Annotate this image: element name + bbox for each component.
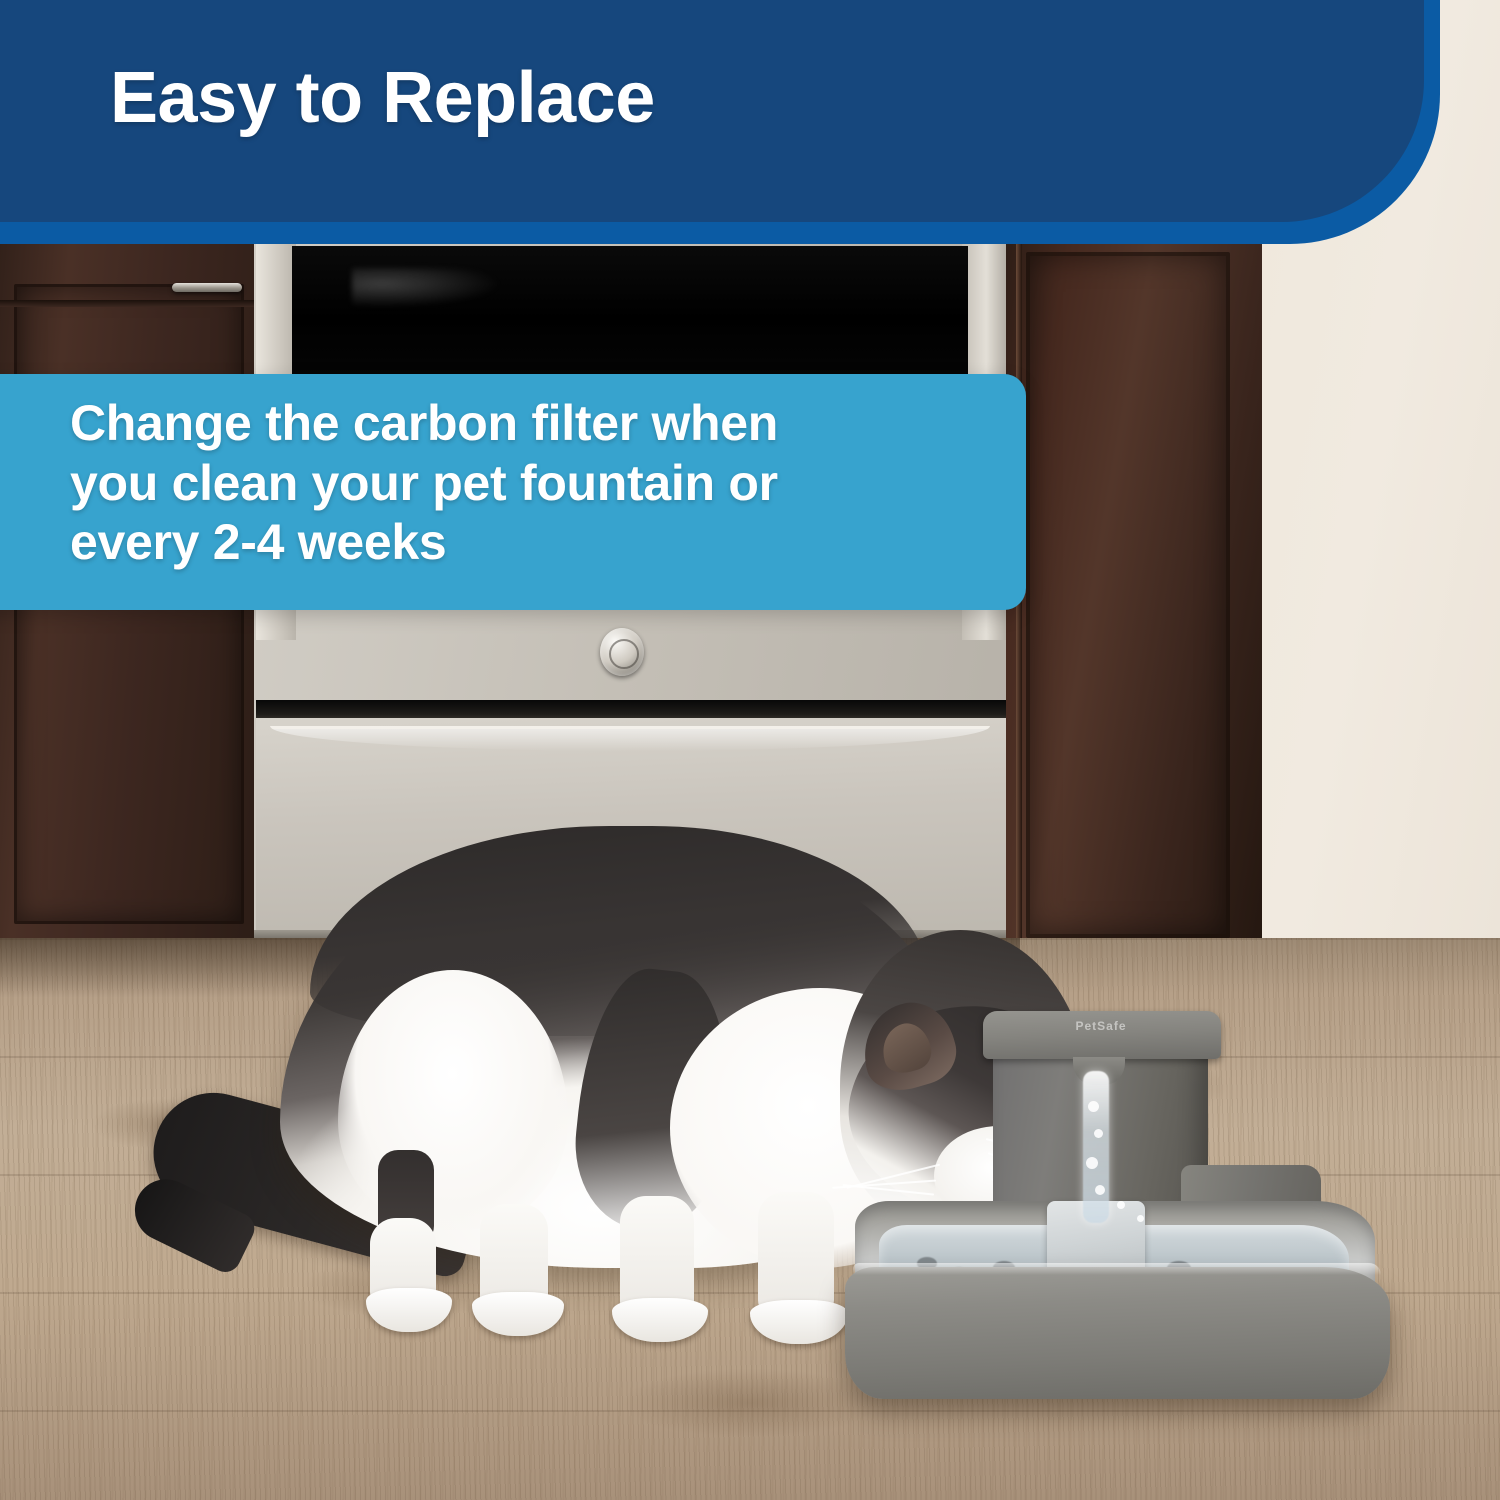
cat-paw bbox=[750, 1300, 848, 1344]
water-bubble bbox=[1088, 1101, 1099, 1112]
fountain-water-stream bbox=[1083, 1071, 1109, 1223]
marketing-image: PetSafe Easy to Replace bbox=[0, 0, 1500, 1500]
cat-paw bbox=[472, 1292, 564, 1336]
water-splash bbox=[1137, 1215, 1144, 1222]
water-splash bbox=[1117, 1201, 1125, 1209]
cabinet-drawer-handle bbox=[172, 283, 242, 292]
callout-line-2: you clean your pet fountain or bbox=[70, 454, 1020, 514]
water-bubble bbox=[1095, 1185, 1105, 1195]
oven-glass-reflection bbox=[352, 268, 502, 308]
callout-text: Change the carbon filter when you clean … bbox=[70, 394, 1020, 573]
appliance-drawer-gap bbox=[256, 700, 1006, 720]
water-bubble bbox=[1086, 1157, 1098, 1169]
fountain-rim-highlight bbox=[853, 1263, 1381, 1275]
callout-line-1: Change the carbon filter when bbox=[70, 394, 1020, 454]
petsafe-water-fountain: PetSafe bbox=[845, 1005, 1400, 1400]
oven-glass-window bbox=[292, 246, 968, 378]
cat-paw bbox=[366, 1288, 452, 1332]
page-title: Easy to Replace bbox=[110, 60, 1110, 138]
petsafe-logo: PetSafe bbox=[1041, 1019, 1161, 1033]
callout-line-3: every 2-4 weeks bbox=[70, 513, 1020, 573]
water-bubble bbox=[1094, 1129, 1103, 1138]
header-banner: Easy to Replace bbox=[0, 0, 1500, 250]
fountain-base bbox=[845, 1267, 1390, 1399]
cat-paw bbox=[612, 1298, 708, 1342]
appliance-brand-badge bbox=[600, 628, 644, 676]
cabinet-drawer-seam bbox=[0, 300, 262, 307]
